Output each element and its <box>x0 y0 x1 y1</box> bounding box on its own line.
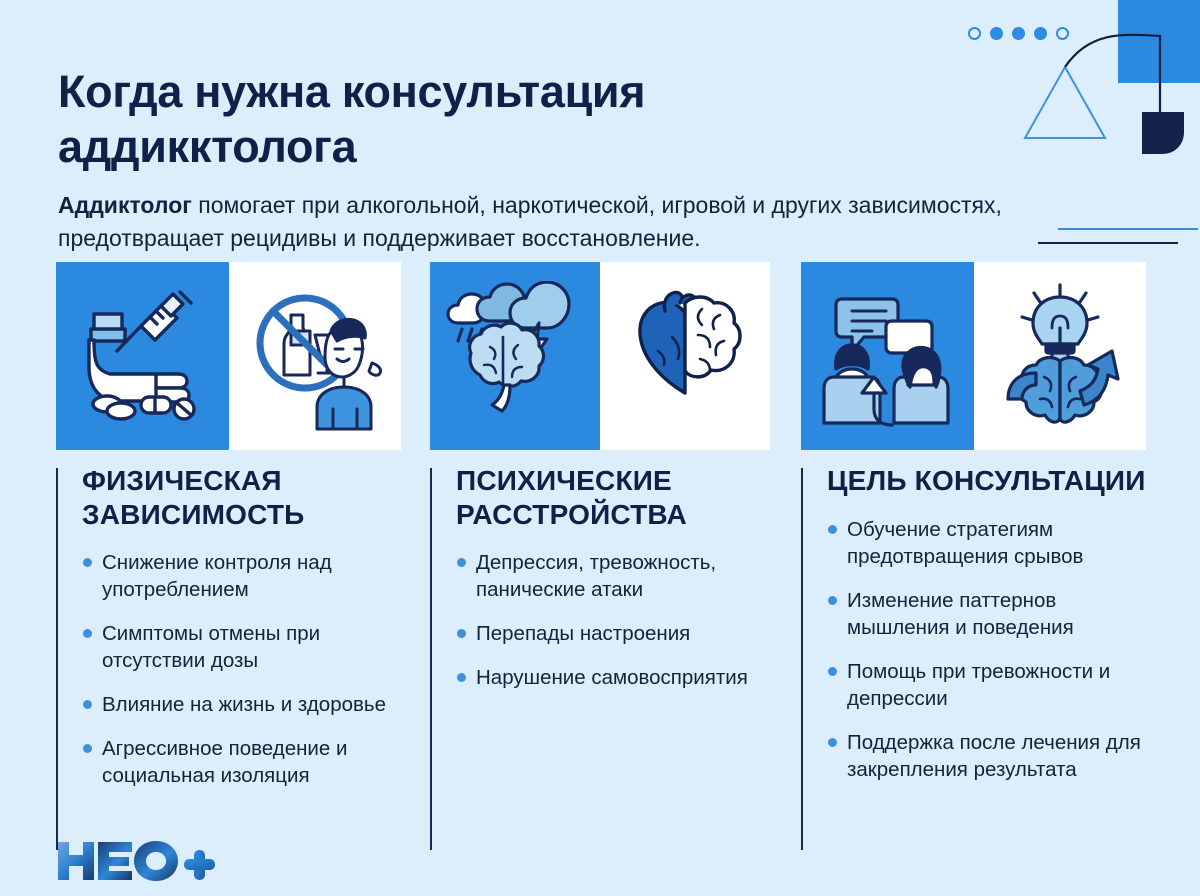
tile-arm-syringe-pills <box>56 262 229 450</box>
list-item: Поддержка после лечения для закрепления … <box>827 729 1146 783</box>
list-item: Обучение стратегиям предотвращения срыво… <box>827 516 1146 570</box>
list-item: Перепады настроения <box>456 620 770 647</box>
no-alcohol-sad-person-icon <box>239 281 391 431</box>
brain-lightbulb-arrows-icon <box>984 281 1136 431</box>
list-item: Агрессивное поведение и социальная изоля… <box>82 735 401 789</box>
arm-syringe-pills-icon <box>67 281 217 431</box>
decor-arc-line <box>1065 35 1160 115</box>
column-3-icon-tiles <box>801 262 1146 450</box>
column-3-list: Обучение стратегиям предотвращения срыво… <box>827 516 1146 783</box>
column-1-icon-tiles <box>56 262 401 450</box>
list-item: Помощь при тревожности и депрессии <box>827 658 1146 712</box>
decor-dot-1 <box>968 27 981 40</box>
list-item: Изменение паттернов мышления и поведения <box>827 587 1146 641</box>
tile-brain-storm-cloud <box>430 262 600 450</box>
list-item: Депрессия, тревожность, панические атаки <box>456 549 770 603</box>
column-2-list: Депрессия, тревожность, панические атаки… <box>456 549 770 691</box>
column-2-body: ПСИХИЧЕСКИЕ РАССТРОЙСТВА Депрессия, трев… <box>430 464 770 849</box>
column-consultation-goal: ЦЕЛЬ КОНСУЛЬТАЦИИ Обучение стратегиям пр… <box>801 262 1146 849</box>
column-2-heading: ПСИХИЧЕСКИЕ РАССТРОЙСТВА <box>456 464 770 531</box>
column-3-rule <box>801 468 803 850</box>
column-2-rule <box>430 468 432 850</box>
page-subtitle: Аддиктолог помогает при алкогольной, нар… <box>58 189 1088 254</box>
list-item: Симптомы отмены при отсутствии дозы <box>82 620 401 674</box>
list-item: Нарушение самовосприятия <box>456 664 770 691</box>
decor-triangle-icon <box>1025 67 1105 138</box>
subtitle-lead-term: Аддиктолог <box>58 192 192 218</box>
brain-storm-cloud-icon <box>440 281 590 431</box>
column-2-icon-tiles <box>430 262 770 450</box>
tile-heart-brain <box>600 262 770 450</box>
list-item: Снижение контроля над употреблением <box>82 549 401 603</box>
page-title: Когда нужна консультация аддикктолога <box>58 65 878 175</box>
decor-half-disc-icon <box>1140 112 1186 156</box>
column-1-list: Снижение контроля над употреблением Симп… <box>82 549 401 789</box>
column-1-heading: ФИЗИЧЕСКАЯ ЗАВИСИМОСТЬ <box>82 464 401 531</box>
tile-no-alcohol-sad-person <box>229 262 402 450</box>
neo-plus-logo <box>56 838 216 884</box>
tile-two-people-speech-bubbles <box>801 262 974 450</box>
tile-brain-lightbulb-arrows <box>974 262 1147 450</box>
column-3-heading: ЦЕЛЬ КОНСУЛЬТАЦИИ <box>827 464 1146 498</box>
column-mental-disorders: ПСИХИЧЕСКИЕ РАССТРОЙСТВА Депрессия, трев… <box>430 262 770 849</box>
heart-brain-icon <box>610 281 760 431</box>
infographic-canvas: Когда нужна консультация аддикктолога Ад… <box>0 0 1200 896</box>
column-physical-dependence: ФИЗИЧЕСКАЯ ЗАВИСИМОСТЬ Снижение контроля… <box>56 262 401 849</box>
subtitle-rest: помогает при алкогольной, наркотической,… <box>58 192 1002 251</box>
two-people-speech-bubbles-icon <box>812 281 962 431</box>
list-item: Влияние на жизнь и здоровье <box>82 691 401 718</box>
column-3-body: ЦЕЛЬ КОНСУЛЬТАЦИИ Обучение стратегиям пр… <box>801 464 1146 849</box>
column-1-rule <box>56 468 58 850</box>
decor-dot-2 <box>990 27 1003 40</box>
column-1-body: ФИЗИЧЕСКАЯ ЗАВИСИМОСТЬ Снижение контроля… <box>56 464 401 849</box>
